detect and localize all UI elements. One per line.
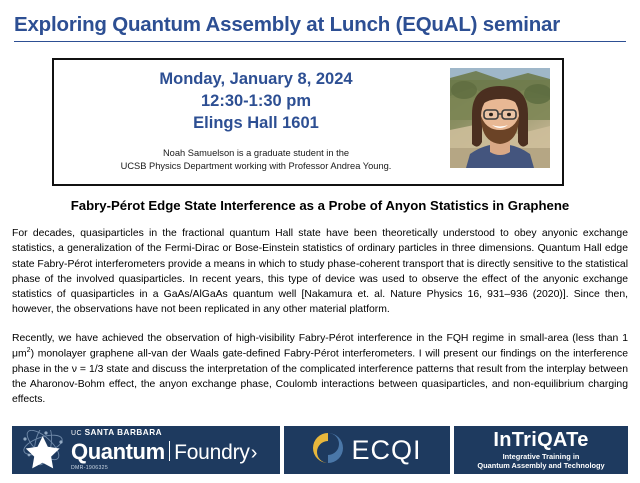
speaker-portrait [450,68,550,168]
event-location: Elings Hall 1601 [193,113,319,135]
quantum-word: Quantum [71,441,165,463]
logo-ecqi: ECQI [284,426,450,474]
foundry-wordmark: UC SANTA BARBARA Quantum Foundry › DMR-1… [71,429,274,470]
portrait-column [448,67,552,178]
chevron-right-icon: › [251,443,258,463]
speaker-bio-line-1: Noah Samuelson is a graduate student in … [121,147,392,160]
intriqate-tagline-line-1: Integrative Training in [477,452,604,461]
event-box-inner: Monday, January 8, 2024 12:30-1:30 pm El… [54,60,562,184]
intriqate-logo-wrap: InTriQATe Integrative Training in Quantu… [454,430,628,471]
foundry-word: Foundry [174,442,250,463]
abstract-p2-part-b: ) monolayer graphene all-van der Waals g… [12,349,628,406]
logo-quantum-foundry: UC SANTA BARBARA Quantum Foundry › DMR-1… [12,426,280,474]
sponsor-logo-band: UC SANTA BARBARA Quantum Foundry › DMR-1… [12,426,628,474]
page-title: Exploring Quantum Assembly at Lunch (EQu… [14,14,626,37]
star-atom-icon [16,430,70,470]
abstract-paragraph-1: For decades, quasiparticles in the fract… [12,226,628,318]
uc-prefix: UC [71,430,85,437]
ecqi-wordmark: ECQI [351,437,421,464]
seminar-header: Exploring Quantum Assembly at Lunch (EQu… [0,0,640,42]
event-time: 12:30-1:30 pm [201,91,311,113]
grant-number: DMR-1906325 [71,465,274,471]
uc-santa-barbara-label: UC SANTA BARBARA [71,429,274,437]
foundry-main-wordmark: Quantum Foundry › [71,439,274,463]
ecqi-swirl-icon [312,432,344,469]
intriqate-wordmark: InTriQATe [493,430,588,450]
event-details-box: Monday, January 8, 2024 12:30-1:30 pm El… [52,58,564,186]
foundry-logo-wrap: UC SANTA BARBARA Quantum Foundry › DMR-1… [12,429,280,470]
ecqi-mark [312,432,344,464]
campus-name: SANTA BARBARA [85,428,162,437]
event-text-column: Monday, January 8, 2024 12:30-1:30 pm El… [64,67,448,178]
title-divider [14,41,626,42]
intriqate-tagline-line-2: Quantum Assembly and Technology [477,461,604,470]
abstract: For decades, quasiparticles in the fract… [12,226,628,408]
logo-intriqate: InTriQATe Integrative Training in Quantu… [454,426,628,474]
speaker-bio: Noah Samuelson is a graduate student in … [121,147,392,173]
intriqate-tagline: Integrative Training in Quantum Assembly… [477,452,604,471]
wordmark-divider [169,441,170,461]
event-date: Monday, January 8, 2024 [159,69,352,91]
talk-title: Fabry-Pérot Edge State Interference as a… [0,198,640,213]
foundry-star-icon [16,430,70,470]
portrait-illustration [450,68,550,168]
ecqi-logo-wrap: ECQI [312,432,421,469]
speaker-bio-line-2: UCSB Physics Department working with Pro… [121,160,392,173]
abstract-paragraph-2: Recently, we have achieved the observati… [12,331,628,408]
